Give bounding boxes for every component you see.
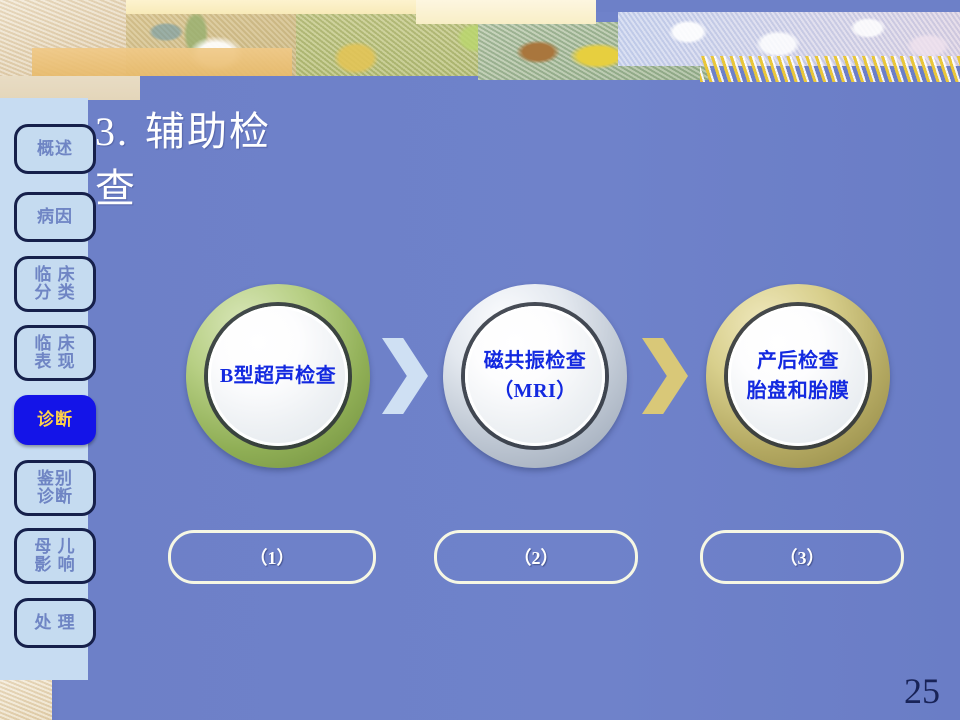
page-title: 3.辅助检 查 [95,104,655,218]
sidebar-item-etiology[interactable]: 病因 [14,192,96,242]
sidebar-item-label: 处 理 [34,614,75,632]
banner-sand-strip [0,76,140,100]
diagram-step-2-label-line2: （MRI） [493,376,577,406]
sidebar-item-label: 病因 [37,208,73,226]
diagram-step-1-inner: B型超声检查 [208,306,348,446]
sidebar-item-clinical-classification[interactable]: 临 床 分 类 [14,256,96,312]
banner-cream-strip-right [416,0,596,24]
header-banner-collage [0,0,960,100]
caption-text: （1） [250,544,295,570]
page-number: 25 [904,670,940,712]
sidebar-item-label: 概述 [37,140,73,158]
banner-wheat-image [700,56,960,82]
diagram-step-3-label-line2: 胎盘和胎膜 [747,376,850,406]
banner-orange-strip [32,48,292,76]
sidebar-item-label: 临 床 表 现 [34,335,75,371]
diagram-step-3-caption[interactable]: （3） [700,530,904,584]
diagram-step-2-circle[interactable]: 磁共振检查 （MRI） [443,284,627,468]
diagram-step-2-label-line1: 磁共振检查 [484,346,587,376]
title-number: 3. [95,109,129,154]
sidebar-panel [0,98,88,680]
sidebar-item-label: 诊断 [37,411,73,429]
slide: 概述 病因 临 床 分 类 临 床 表 现 诊断 鉴别 诊断 母 儿 影 响 处… [0,0,960,720]
sidebar-item-label: 临 床 分 类 [34,266,75,302]
sidebar-item-label: 母 儿 影 响 [34,538,75,574]
banner-top-blue-strip [596,0,960,12]
title-text-line1: 辅助检 [145,109,271,154]
diagram-step-3-inner: 产后检查 胎盘和胎膜 [728,306,868,446]
diagram-step-1-caption[interactable]: （1） [168,530,376,584]
sidebar-item-maternal-fetal-effects[interactable]: 母 儿 影 响 [14,528,96,584]
sidebar-item-clinical-manifestation[interactable]: 临 床 表 现 [14,325,96,381]
sidebar-item-overview[interactable]: 概述 [14,124,96,174]
diagram-step-2-caption[interactable]: （2） [434,530,638,584]
sidebar-corner-texture [0,680,52,720]
caption-text: （2） [514,544,559,570]
title-text-line2: 查 [95,166,137,211]
sidebar-item-differential-diagnosis[interactable]: 鉴别 诊断 [14,460,96,516]
diagram-step-2-inner: 磁共振检查 （MRI） [465,306,605,446]
diagram-step-3-label-line1: 产后检查 [757,346,839,376]
diagram-step-1-circle[interactable]: B型超声检查 [186,284,370,468]
sidebar-item-label: 鉴别 诊断 [37,470,73,506]
sidebar-item-management[interactable]: 处 理 [14,598,96,648]
sidebar-item-diagnosis[interactable]: 诊断 [14,395,96,445]
diagram-step-1-label-line1: B型超声检查 [220,361,336,391]
caption-text: （3） [780,544,825,570]
diagram-step-3-circle[interactable]: 产后检查 胎盘和胎膜 [706,284,890,468]
